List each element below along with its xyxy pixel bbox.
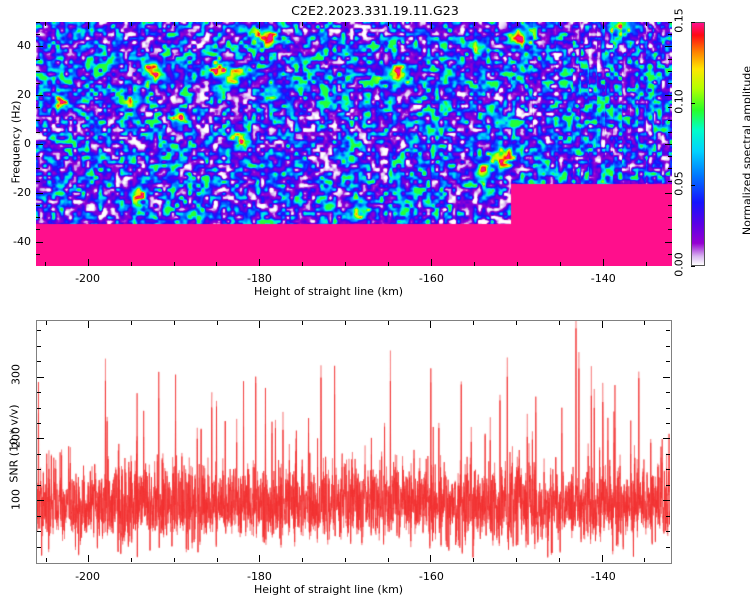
tick-mark xyxy=(46,321,47,325)
tick-mark xyxy=(216,262,217,266)
tick-mark xyxy=(517,22,518,26)
tick-mark xyxy=(663,500,670,501)
snr-y-tick-label: 300 xyxy=(10,358,23,392)
tick-mark xyxy=(37,469,41,470)
tick-mark xyxy=(644,558,645,562)
tick-mark xyxy=(517,262,518,266)
tick-mark xyxy=(345,558,346,562)
tick-mark xyxy=(430,555,431,562)
tick-mark xyxy=(603,22,604,29)
tick-mark xyxy=(88,259,89,266)
tick-mark xyxy=(36,181,40,182)
colorbar-tick-label: 0.15 xyxy=(673,5,686,37)
tick-mark xyxy=(88,321,89,328)
colorbar-tick-mark xyxy=(691,185,695,186)
tick-mark xyxy=(36,144,43,145)
spectrogram-x-tick-label: -200 xyxy=(74,272,102,285)
tick-mark xyxy=(45,22,46,26)
tick-mark xyxy=(174,321,175,325)
spectrogram-y-tick-label: 20 xyxy=(0,88,31,101)
tick-mark xyxy=(559,321,560,325)
tick-mark xyxy=(37,547,41,548)
tick-mark xyxy=(37,516,41,517)
tick-mark xyxy=(345,262,346,266)
spectrogram-x-tick-label: -180 xyxy=(245,272,273,285)
tick-mark xyxy=(174,22,175,26)
colorbar-tick-label: 0.05 xyxy=(673,167,686,199)
tick-mark xyxy=(666,361,670,362)
tick-mark xyxy=(174,558,175,562)
colorbar-axis-label: Normalized spectral amplitude xyxy=(741,61,750,241)
snr-x-axis-label: Height of straight line (km) xyxy=(254,583,403,596)
colorbar-tick-mark xyxy=(691,22,695,23)
tick-mark xyxy=(668,120,672,121)
tick-mark xyxy=(259,321,260,328)
tick-mark xyxy=(36,156,40,157)
tick-mark xyxy=(36,22,40,23)
tick-mark xyxy=(665,46,672,47)
colorbar-tick-label: 0.10 xyxy=(673,86,686,118)
spectrogram-y-tick-label: 40 xyxy=(0,39,31,52)
tick-mark xyxy=(174,262,175,266)
spectrogram-y-tick-label: -40 xyxy=(0,235,31,248)
tick-mark xyxy=(560,22,561,26)
tick-mark xyxy=(666,547,670,548)
tick-mark xyxy=(37,438,44,439)
tick-mark xyxy=(665,95,672,96)
tick-mark xyxy=(388,321,389,325)
tick-mark xyxy=(668,229,672,230)
tick-mark xyxy=(36,83,40,84)
tick-mark xyxy=(36,168,40,169)
tick-mark xyxy=(345,22,346,26)
tick-mark xyxy=(666,531,670,532)
tick-mark xyxy=(516,321,517,325)
tick-mark xyxy=(644,321,645,325)
tick-mark xyxy=(665,144,672,145)
tick-mark xyxy=(473,558,474,562)
tick-mark xyxy=(646,262,647,266)
tick-mark xyxy=(37,423,41,424)
tick-mark xyxy=(666,469,670,470)
tick-mark xyxy=(37,392,41,393)
tick-mark xyxy=(217,558,218,562)
tick-mark xyxy=(666,423,670,424)
tick-mark xyxy=(666,392,670,393)
tick-mark xyxy=(36,46,43,47)
tick-mark xyxy=(474,262,475,266)
tick-mark xyxy=(131,22,132,26)
tick-mark xyxy=(668,107,672,108)
tick-mark xyxy=(259,22,260,29)
tick-mark xyxy=(217,321,218,325)
spectrogram-y-axis-label: Frequency (Hz) xyxy=(10,104,23,184)
page-title: C2E2.2023.331.19.11.G23 xyxy=(0,3,750,18)
tick-mark xyxy=(259,259,260,266)
colorbar-tick-mark xyxy=(691,266,695,267)
snr-y-axis-label: SNR (10 * v/v) xyxy=(8,399,21,489)
tick-mark xyxy=(646,22,647,26)
tick-mark xyxy=(88,22,89,29)
tick-mark xyxy=(36,107,40,108)
tick-mark xyxy=(665,193,672,194)
tick-mark xyxy=(666,454,670,455)
tick-mark xyxy=(36,217,40,218)
tick-mark xyxy=(37,346,41,347)
tick-mark xyxy=(560,262,561,266)
spectrogram-x-tick-label: -140 xyxy=(589,272,617,285)
snr-x-tick-label: -180 xyxy=(245,570,273,583)
snr-trace xyxy=(37,321,670,562)
tick-mark xyxy=(388,262,389,266)
tick-mark xyxy=(388,22,389,26)
tick-mark xyxy=(37,377,44,378)
tick-mark xyxy=(259,555,260,562)
tick-mark xyxy=(345,321,346,325)
tick-mark xyxy=(37,485,41,486)
tick-mark xyxy=(668,83,672,84)
spectrogram-image xyxy=(36,22,672,266)
tick-mark xyxy=(37,361,41,362)
tick-mark xyxy=(36,205,40,206)
spectrogram-x-tick-label: -160 xyxy=(417,272,445,285)
tick-mark xyxy=(559,558,560,562)
tick-mark xyxy=(36,229,40,230)
tick-mark xyxy=(36,242,43,243)
tick-mark xyxy=(36,34,40,35)
tick-mark xyxy=(430,321,431,328)
spectrogram-panel xyxy=(36,22,672,266)
tick-mark xyxy=(663,377,670,378)
tick-mark xyxy=(131,558,132,562)
tick-mark xyxy=(37,500,44,501)
tick-mark xyxy=(36,59,40,60)
tick-mark xyxy=(36,71,40,72)
tick-mark xyxy=(302,262,303,266)
tick-mark xyxy=(36,132,40,133)
snr-panel xyxy=(36,320,672,564)
tick-mark xyxy=(668,22,672,23)
tick-mark xyxy=(474,22,475,26)
tick-mark xyxy=(473,321,474,325)
tick-mark xyxy=(37,531,41,532)
tick-mark xyxy=(668,156,672,157)
tick-mark xyxy=(666,346,670,347)
colorbar-tick-mark xyxy=(691,103,695,104)
snr-x-tick-label: -200 xyxy=(74,570,102,583)
tick-mark xyxy=(131,262,132,266)
tick-mark xyxy=(431,22,432,29)
tick-mark xyxy=(666,330,670,331)
tick-mark xyxy=(88,555,89,562)
tick-mark xyxy=(302,558,303,562)
tick-mark xyxy=(668,168,672,169)
tick-mark xyxy=(663,438,670,439)
tick-mark xyxy=(36,193,43,194)
tick-mark xyxy=(302,22,303,26)
tick-mark xyxy=(37,330,41,331)
colorbar xyxy=(691,22,705,266)
tick-mark xyxy=(668,71,672,72)
tick-mark xyxy=(666,485,670,486)
tick-mark xyxy=(603,259,604,266)
colorbar-tick-label: 0.00 xyxy=(673,249,686,281)
tick-mark xyxy=(668,59,672,60)
tick-mark xyxy=(131,321,132,325)
tick-mark xyxy=(36,95,43,96)
tick-mark xyxy=(668,132,672,133)
snr-x-tick-label: -140 xyxy=(589,570,617,583)
snr-x-tick-label: -160 xyxy=(417,570,445,583)
tick-mark xyxy=(666,516,670,517)
tick-mark xyxy=(37,454,41,455)
spectrogram-y-tick-label: -20 xyxy=(0,186,31,199)
figure-root: C2E2.2023.331.19.11.G23 -200-180-160-140… xyxy=(0,0,750,600)
tick-mark xyxy=(302,321,303,325)
tick-mark xyxy=(37,408,41,409)
tick-mark xyxy=(665,242,672,243)
tick-mark xyxy=(668,217,672,218)
tick-mark xyxy=(602,321,603,328)
tick-mark xyxy=(602,555,603,562)
tick-mark xyxy=(45,262,46,266)
spectrogram-x-axis-label: Height of straight line (km) xyxy=(254,285,403,298)
tick-mark xyxy=(668,254,672,255)
tick-mark xyxy=(668,34,672,35)
tick-mark xyxy=(668,181,672,182)
tick-mark xyxy=(36,120,40,121)
tick-mark xyxy=(431,259,432,266)
tick-mark xyxy=(388,558,389,562)
tick-mark xyxy=(516,558,517,562)
tick-mark xyxy=(46,558,47,562)
tick-mark xyxy=(36,254,40,255)
tick-mark xyxy=(668,205,672,206)
tick-mark xyxy=(216,22,217,26)
tick-mark xyxy=(666,408,670,409)
